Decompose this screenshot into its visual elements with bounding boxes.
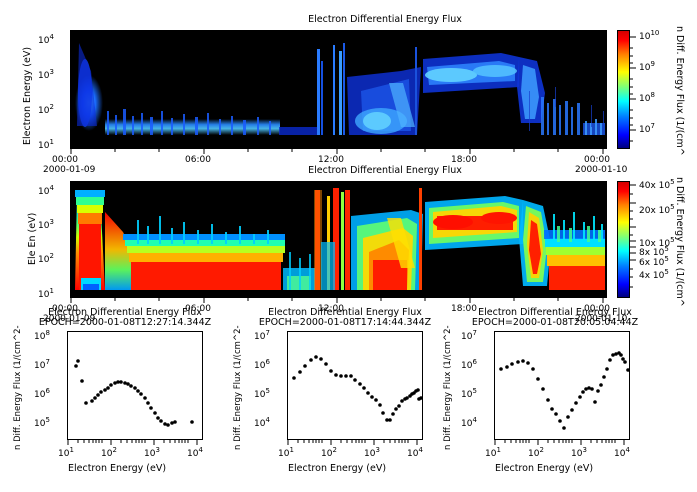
spectrogram-mid-cbtick-1: 6x 105 [639, 255, 669, 268]
spectrogram-top-ylabel: Electron Energy (eV) [22, 47, 33, 145]
line-plot-2-subtitle: EPOCH=2000-01-08T17:14:44.344Z [240, 317, 450, 328]
spectrogram-mid-cbtick-4: 20x 105 [639, 203, 675, 216]
spectrogram-top-cbtick-1: 108 [639, 91, 655, 104]
line-plot-3-xlabel: Electron Energy (eV) [495, 463, 593, 474]
spectrogram-top-plot [70, 30, 607, 149]
line-plot-2-plot [287, 331, 423, 440]
spectrogram-mid-ytick-3: 103 [38, 218, 54, 231]
spectrogram-top-image [71, 31, 606, 148]
line-plot-3-xtick-1: 101 [485, 446, 501, 459]
line-plot-1-ytick-8: 108 [34, 329, 50, 342]
spectrogram-mid-cbtick-0: 4x 105 [639, 268, 669, 281]
spectrogram-top-cbtick-0: 107 [639, 122, 655, 135]
line-plot-1-xtick-1: 101 [58, 446, 74, 459]
spectrogram-top-xtick-0: 00:00 [52, 155, 78, 165]
line-plot-3-ytick-6: 106 [461, 358, 477, 371]
line-plot-2-ytick-5: 105 [254, 387, 270, 400]
line-plot-1-subtitle: EPOCH=2000-01-08T12:27:14.344Z [20, 317, 230, 328]
line-plot-3-xtick-2: 102 [528, 446, 544, 459]
spectrogram-mid-ytick-2: 102 [38, 252, 54, 265]
spectrogram-top-title: Electron Differential Energy Flux [160, 14, 610, 25]
line-plot-2-xtick-1: 101 [278, 446, 294, 459]
spectrogram-top-ytick-3: 103 [38, 68, 54, 81]
line-plot-3-xtick-3: 103 [571, 446, 587, 459]
line-plot-3-ytick-5: 105 [461, 387, 477, 400]
line-plot-1-ylabel: n Diff. Energy Flux (1/(cm^2- [13, 325, 23, 450]
line-plot-2-xtick-3: 103 [364, 446, 380, 459]
line-plot-1-xtick-4: 104 [187, 446, 203, 459]
line-plot-1-points [68, 332, 202, 439]
spectrogram-mid-cbtick-5: 40x 105 [639, 178, 675, 191]
line-plot-3-ytick-7: 107 [461, 329, 477, 342]
line-plot-1-plot [67, 331, 203, 440]
line-plot-1-ytick-6: 106 [34, 387, 50, 400]
line-plot-2-xtick-4: 104 [407, 446, 423, 459]
spectrogram-mid-plot [70, 181, 607, 298]
line-plot-3-plot [494, 331, 630, 440]
spectrogram-mid-colorbar-ticks [630, 181, 637, 299]
line-plot-3-ytick-4: 104 [461, 416, 477, 429]
spectrogram-top-xdate-left: 2000-01-09 [43, 165, 95, 175]
line-plot-1-ytick-5: 105 [34, 416, 50, 429]
spectrogram-top-xtick-2: 12:00 [318, 155, 344, 165]
spectrogram-top-xtick-1: 06:00 [185, 155, 211, 165]
spectrogram-top-colorbar-ticks [630, 30, 637, 150]
spectrogram-top-ytick-2: 102 [38, 103, 54, 116]
line-plot-2-xtick-2: 102 [321, 446, 337, 459]
spectrogram-top-colorbar-label: n Diff. Energy Flux (1/(cm^ [674, 26, 685, 156]
spectrogram-mid-image [71, 182, 606, 297]
line-plot-3-subtitle: EPOCH=2000-01-08T20:05:04.44Z [450, 317, 660, 328]
spectrogram-top-ytick-4: 104 [38, 33, 54, 46]
line-plot-3-xaxis-ticks [494, 440, 630, 446]
line-plot-1-xtick-3: 103 [144, 446, 160, 459]
spectrogram-top-cbtick-3: 1010 [639, 29, 659, 42]
line-plot-3-ylabel: n Diff. Energy Flux (1/(cm^2- [443, 325, 453, 450]
line-plot-2-ylabel: n Diff. Energy Flux (1/(cm^2- [233, 325, 243, 450]
spectrogram-top-xtick-4: 00:00 [584, 155, 610, 165]
line-plot-1-ytick-7: 107 [34, 358, 50, 371]
line-plot-3-xtick-4: 104 [614, 446, 630, 459]
line-plot-1-xaxis-ticks [67, 440, 203, 446]
spectrogram-mid-ytick-4: 104 [38, 184, 54, 197]
line-plot-2-ytick-7: 107 [254, 329, 270, 342]
line-plot-2-xaxis-ticks [287, 440, 423, 446]
line-plot-2-points [288, 332, 422, 439]
spectrogram-top-ytick-1: 101 [38, 138, 54, 151]
spectrogram-mid-colorbar-label: n Diff. Energy Flux (1/(cm^ [674, 177, 685, 307]
line-plot-2-ytick-6: 106 [254, 358, 270, 371]
line-plot-3-points [495, 332, 629, 439]
spectrogram-mid-ylabel: Ele En (eV) [27, 213, 38, 265]
spectrogram-top-colorbar [617, 30, 630, 149]
spectrogram-mid-title: Electron Differential Energy Flux [160, 165, 610, 176]
spectrogram-mid-ytick-1: 101 [38, 287, 54, 300]
spectrogram-top-cbtick-2: 109 [639, 60, 655, 73]
line-plot-1-xtick-2: 102 [101, 446, 117, 459]
spectrogram-mid-colorbar [617, 181, 630, 298]
spectrogram-top-xtick-3: 18:00 [451, 155, 477, 165]
line-plot-2-ytick-4: 104 [254, 416, 270, 429]
line-plot-2-xlabel: Electron Energy (eV) [288, 463, 386, 474]
line-plot-1-xlabel: Electron Energy (eV) [68, 463, 166, 474]
